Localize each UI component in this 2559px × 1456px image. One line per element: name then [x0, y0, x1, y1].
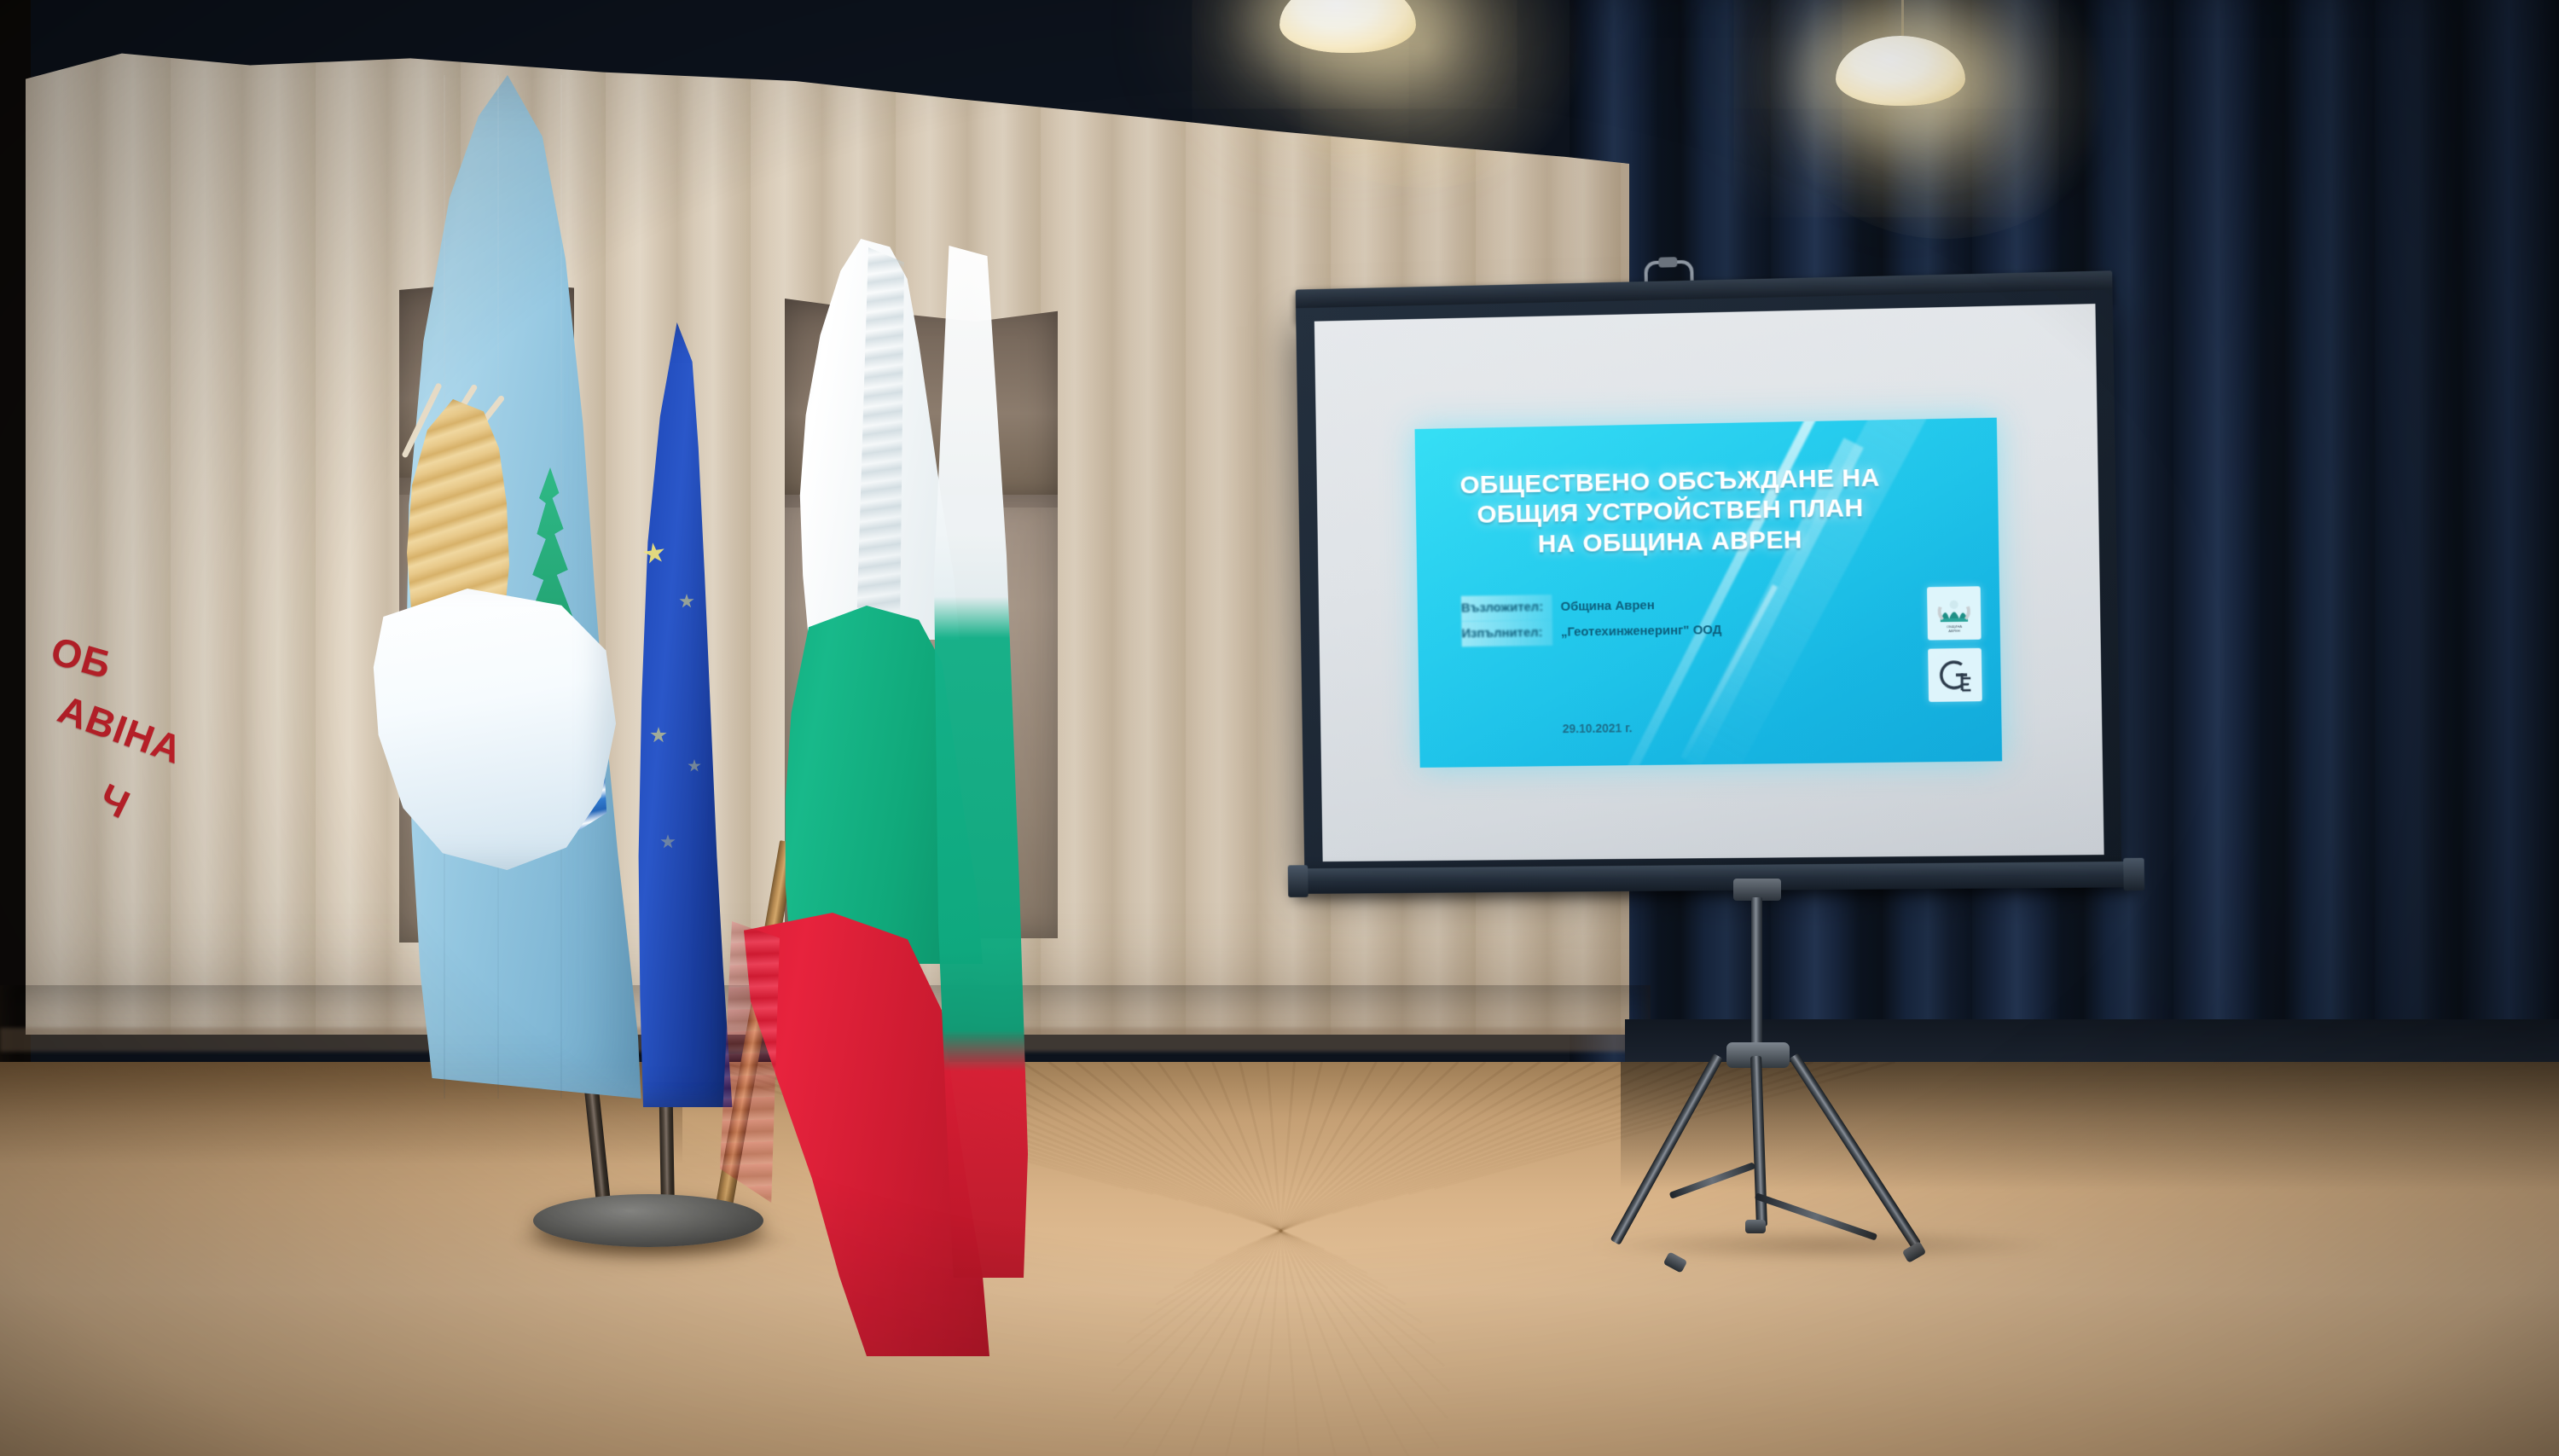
presentation-hall-scene: ОБ АВIНА Ч: [0, 0, 2559, 1456]
screen-bottom-cap-left: [1288, 865, 1309, 897]
floor-plank: [1193, 1062, 1622, 1275]
navy-curtain-right-edge: [2380, 0, 2559, 1134]
european-union-flag: [597, 322, 751, 1107]
slide-meta-label-contractor: Изпълнител:: [1461, 620, 1552, 647]
slide-metadata: Възложител: Община Аврен Изпълнител: „Ге…: [1461, 592, 1722, 647]
svg-text:АВРЕН: АВРЕН: [1948, 629, 1960, 633]
slide-meta-row-client: Възложител: Община Аврен: [1461, 592, 1721, 622]
eu-flag-cloth: [597, 322, 751, 1107]
slide-meta-label-client: Възложител:: [1461, 595, 1552, 621]
geotechengineering-logo-icon: [1928, 648, 1982, 702]
screen-hook-knob: [1658, 257, 1677, 268]
flag-stand-base: [533, 1194, 763, 1247]
slide-meta-value-client: Община Аврен: [1560, 593, 1655, 620]
bulgaria-national-flag: [751, 239, 1041, 1143]
tripod-floor-shadow: [1587, 1228, 2064, 1262]
floor-plank: [1174, 1062, 1596, 1290]
tripod-projection-screen[interactable]: ОБЩЕСТВЕНО ОБСЪЖДАНЕ НА ОБЩИЯ УСТРОЙСТВЕ…: [1295, 246, 2156, 908]
projected-slide: ОБЩЕСТВЕНО ОБСЪЖДАНЕ НА ОБЩИЯ УСТРОЙСТВЕ…: [1415, 418, 2003, 768]
slide-title: ОБЩЕСТВЕНО ОБСЪЖДАНЕ НА ОБЩИЯ УСТРОЙСТВЕ…: [1415, 462, 1926, 561]
slide-meta-row-contractor: Изпълнител: „Геотехинженеринг" ООД: [1461, 618, 1721, 647]
avren-municipality-coat-of-arms-icon: ОБЩИНА АВРЕН: [1927, 586, 1982, 640]
slide-meta-value-contractor: „Геотехинженеринг" ООД: [1561, 618, 1722, 646]
slide-date: 29.10.2021 г.: [1563, 721, 1633, 735]
pendant-lamp-left: [1279, 0, 1416, 53]
screen-bottom-cap-right: [2123, 858, 2144, 891]
tripod-center-column: [1751, 897, 1762, 1051]
screen-canvas: ОБЩЕСТВЕНО ОБСЪЖДАНЕ НА ОБЩИЯ УСТРОЙСТВЕ…: [1314, 304, 2104, 861]
